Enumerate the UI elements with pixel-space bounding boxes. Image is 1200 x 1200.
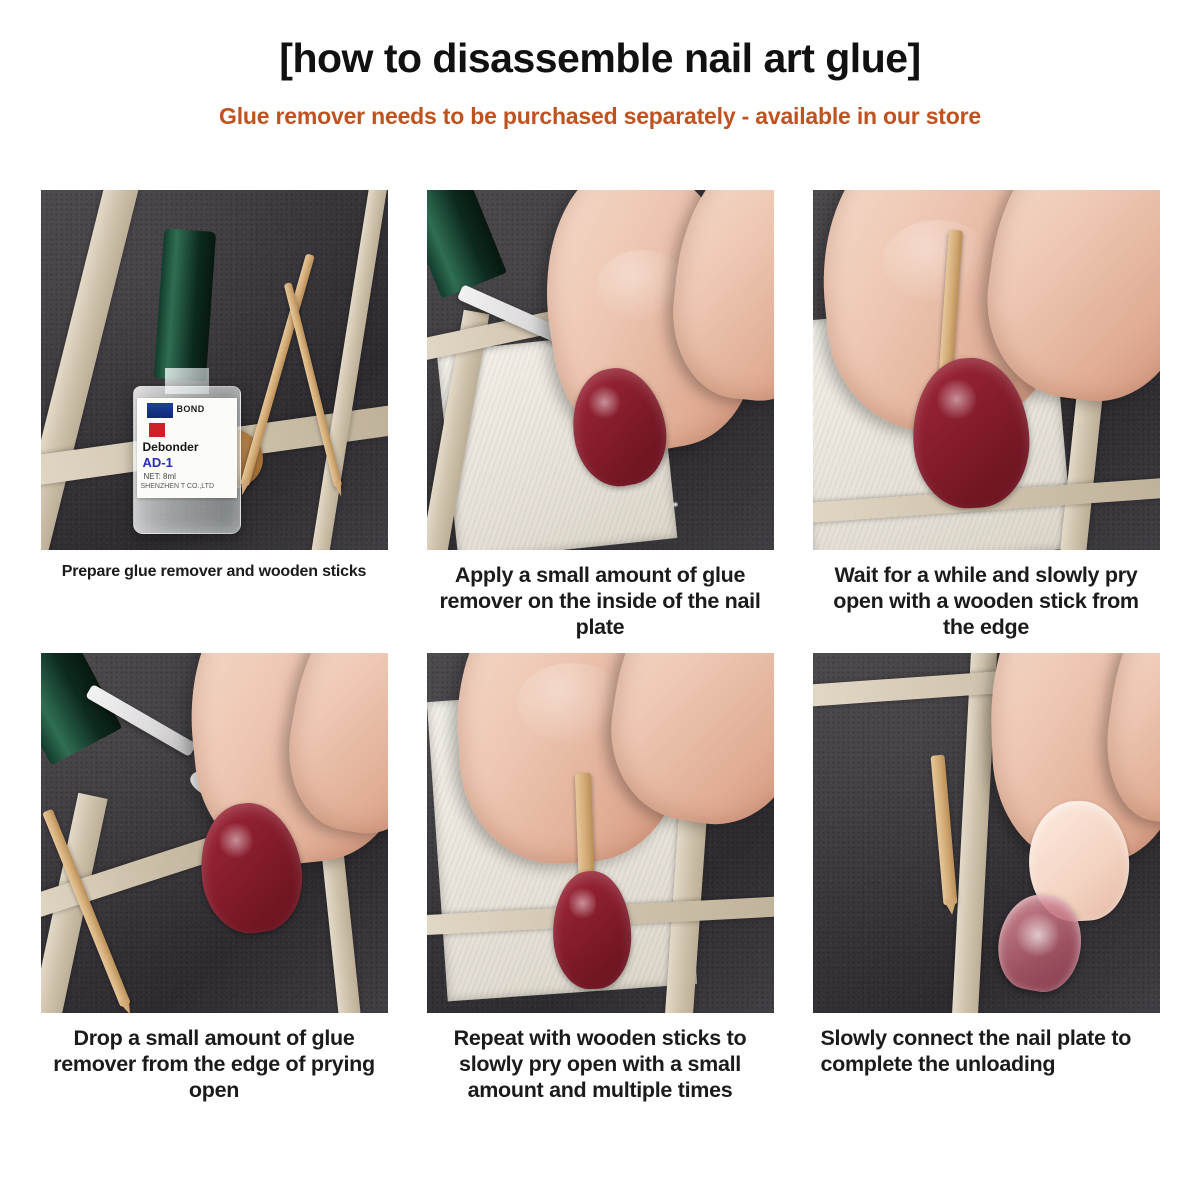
- step-4-photo-dropping-remover-at-edge: [41, 653, 388, 1013]
- label-red-mark: [149, 423, 165, 437]
- steps-grid: BOND Debonder AD-1 NET: 8ml SHENZHEN T C…: [0, 190, 1200, 1103]
- label-net-volume: NET: 8ml: [144, 472, 176, 481]
- bottle-label: BOND Debonder AD-1 NET: 8ml SHENZHEN T C…: [137, 398, 237, 498]
- step-card-4: Drop a small amount of glue remover from…: [41, 653, 388, 1104]
- page-subtitle: Glue remover needs to be purchased separ…: [0, 103, 1200, 130]
- label-company-text: SHENZHEN T CO.,LTD: [141, 483, 215, 490]
- step-card-1: BOND Debonder AD-1 NET: 8ml SHENZHEN T C…: [41, 190, 388, 641]
- label-blue-mark: [147, 403, 173, 418]
- knuckle-highlight: [597, 250, 687, 320]
- step-2-caption: Apply a small amount of glue remover on …: [427, 562, 774, 641]
- step-4-caption: Drop a small amount of glue remover from…: [41, 1025, 388, 1104]
- step-6-photo-removed-nail-plate: [813, 653, 1160, 1013]
- step-3-caption: Wait for a while and slowly pry open wit…: [813, 562, 1160, 641]
- step-3-photo-prying-with-wooden-stick: [813, 190, 1160, 550]
- step-5-caption: Repeat with wooden sticks to slowly pry …: [427, 1025, 774, 1104]
- instruction-infographic-page: [how to disassemble nail art glue] Glue …: [0, 0, 1200, 1200]
- step-6-caption: Slowly connect the nail plate to complet…: [813, 1025, 1160, 1077]
- bottle-cap: [153, 228, 215, 381]
- knuckle-highlight: [883, 220, 993, 300]
- step-2-photo-applying-remover-with-brush: [427, 190, 774, 550]
- label-product-name: Debonder: [143, 440, 199, 454]
- step-1-caption: Prepare glue remover and wooden sticks: [41, 562, 388, 582]
- label-product-code: AD-1: [143, 455, 173, 470]
- step-card-3: Wait for a while and slowly pry open wit…: [813, 190, 1160, 641]
- step-5-photo-repeat-prying: [427, 653, 774, 1013]
- knuckle-highlight: [517, 663, 627, 743]
- sparkle-highlight: [673, 502, 678, 507]
- step-card-2: Apply a small amount of glue remover on …: [427, 190, 774, 641]
- step-1-photo-glue-remover-bottle-and-sticks: BOND Debonder AD-1 NET: 8ml SHENZHEN T C…: [41, 190, 388, 550]
- steps-row-top: BOND Debonder AD-1 NET: 8ml SHENZHEN T C…: [0, 190, 1200, 641]
- steps-row-bottom: Drop a small amount of glue remover from…: [0, 653, 1200, 1104]
- page-title: [how to disassemble nail art glue]: [0, 36, 1200, 81]
- step-card-5: Repeat with wooden sticks to slowly pry …: [427, 653, 774, 1104]
- label-brand-text: BOND: [177, 404, 205, 414]
- header: [how to disassemble nail art glue] Glue …: [0, 0, 1200, 130]
- step-card-6: Slowly connect the nail plate to complet…: [813, 653, 1160, 1104]
